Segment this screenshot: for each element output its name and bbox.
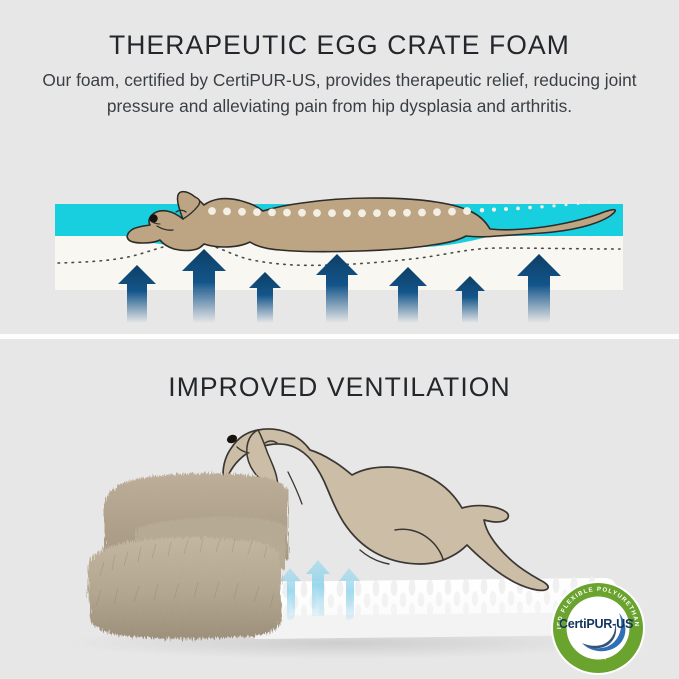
dog-nose bbox=[149, 214, 157, 222]
panel-title-therapeutic-foam: THERAPEUTIC EGG CRATE FOAM bbox=[0, 30, 679, 61]
panel-body-therapeutic-foam: Our foam, certified by CertiPUR-US, prov… bbox=[22, 68, 657, 119]
bed-bolster-front bbox=[88, 538, 282, 639]
infographic-page: THERAPEUTIC EGG CRATE FOAM Our foam, cer… bbox=[0, 0, 679, 679]
panel-title-improved-ventilation: IMPROVED VENTILATION bbox=[0, 372, 679, 403]
airflow-arrows bbox=[280, 560, 360, 620]
illustration-dog-on-foam-cross-section bbox=[0, 148, 679, 323]
panel-therapeutic-foam: THERAPEUTIC EGG CRATE FOAM Our foam, cer… bbox=[0, 0, 679, 337]
badge-center-text: CertiPUR-US bbox=[559, 617, 633, 631]
certipur-us-badge: CERTIFIED FLEXIBLE POLYURETHANE FOAM www… bbox=[549, 579, 647, 677]
